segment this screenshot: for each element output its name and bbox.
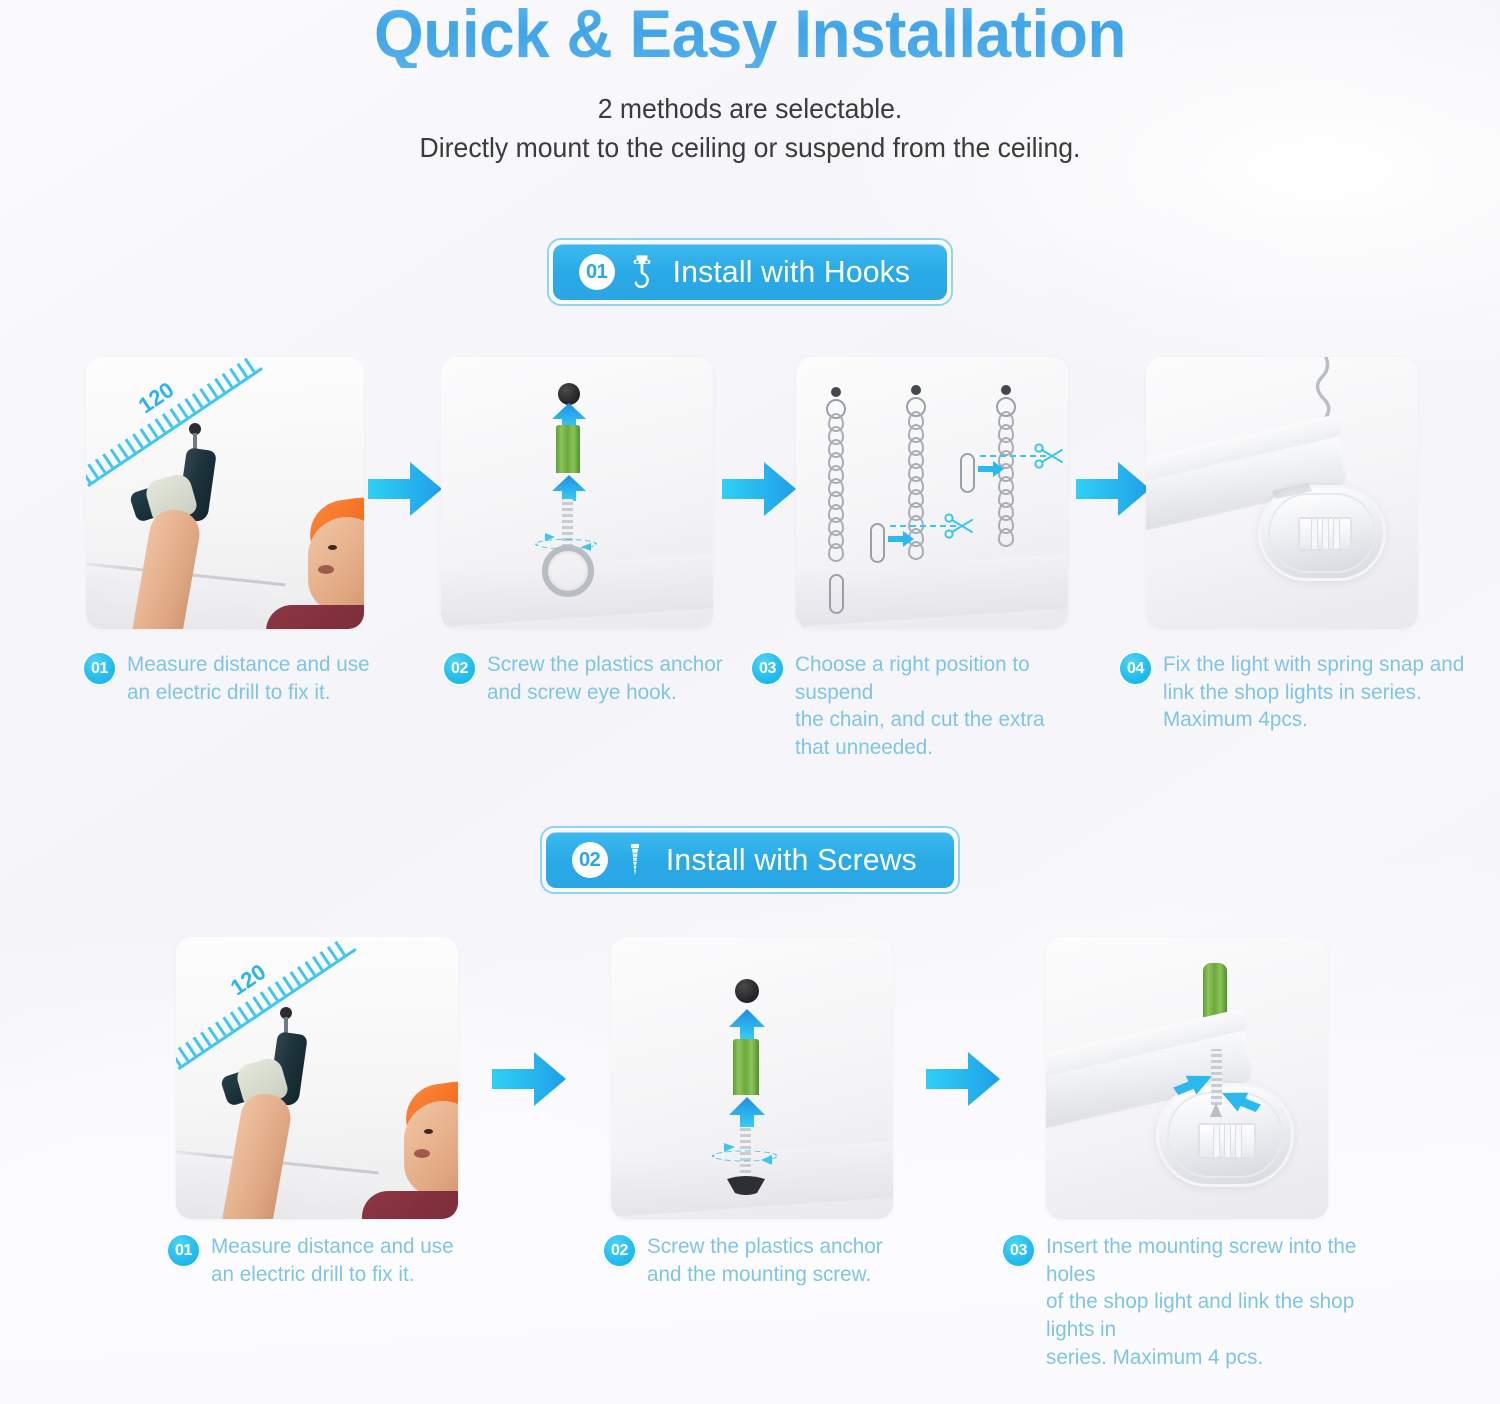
step-caption-1-2: 02 Screw the plastics anchor and screw e… bbox=[444, 651, 754, 706]
subtitle-line-1: 2 methods are selectable. bbox=[38, 90, 1463, 129]
worker-head-2 bbox=[404, 1101, 458, 1197]
step-number-badge: 02 bbox=[444, 653, 475, 684]
step-description: Screw the plastics anchor and the mounti… bbox=[647, 1233, 883, 1288]
section-pill-2: 02 Install with Screws bbox=[546, 832, 955, 888]
diagram-content-1-2 bbox=[441, 357, 713, 629]
step-description: Choose a right position to suspend the c… bbox=[795, 651, 1097, 762]
page-subtitle: 2 methods are selectable. Directly mount… bbox=[38, 90, 1463, 167]
spring-snap-b bbox=[870, 523, 885, 563]
section-label-1: Install with Hooks bbox=[672, 254, 909, 290]
step-image-1-2 bbox=[441, 357, 713, 629]
page-header: Quick & Easy Installation 2 methods are … bbox=[0, 0, 1500, 167]
step-caption-1-3: 03 Choose a right position to suspend th… bbox=[752, 651, 1102, 762]
diagram-content-2-2 bbox=[611, 937, 893, 1219]
ruler-ticks-2 bbox=[176, 941, 346, 1067]
step-caption-2-3: 03 Insert the mounting screw into the ho… bbox=[1003, 1233, 1403, 1372]
step-number-badge: 02 bbox=[604, 1235, 635, 1266]
chain-anchor-point-b bbox=[911, 385, 921, 395]
snap-insert-arrow-c bbox=[978, 461, 1004, 482]
flow-arrow-1-1 bbox=[368, 458, 442, 525]
end-cap-slot bbox=[1268, 477, 1328, 511]
section-pill-outer-1: 01 Install with Hooks bbox=[547, 238, 954, 306]
plastic-anchor bbox=[556, 425, 580, 473]
ruler-ticks bbox=[86, 358, 255, 484]
step-description: Fix the light with spring snap and link … bbox=[1163, 651, 1464, 734]
photo-content-1-1: 120 bbox=[86, 357, 364, 629]
step-image-1-1: 120 bbox=[86, 357, 364, 629]
chain-anchor-point-a bbox=[831, 387, 841, 397]
flow-arrow-1-3 bbox=[1076, 458, 1150, 525]
step-description: Screw the plastics anchor and screw eye … bbox=[487, 651, 723, 706]
step-image-2-2 bbox=[611, 937, 893, 1219]
screw-insert-arrow-right bbox=[1221, 1092, 1263, 1123]
ruler-baseline bbox=[87, 367, 263, 487]
step-description: Measure distance and use an electric dri… bbox=[127, 651, 370, 706]
shop-light-connector-port bbox=[1298, 517, 1352, 551]
step-number-badge: 03 bbox=[752, 653, 783, 684]
fixture-content-2-3 bbox=[1046, 937, 1328, 1219]
worker-shirt-2 bbox=[362, 1191, 458, 1219]
screw-icon bbox=[622, 841, 648, 879]
step-number-badge: 01 bbox=[168, 1235, 199, 1266]
plastic-anchor-2 bbox=[733, 1039, 759, 1095]
hook-icon bbox=[629, 253, 655, 291]
chain-full bbox=[826, 387, 846, 562]
spring-snap-c bbox=[960, 453, 975, 493]
ruler-baseline-2 bbox=[177, 948, 356, 1070]
step-caption-1-4: 04 Fix the light with spring snap and li… bbox=[1120, 651, 1470, 734]
section-number-badge-1: 01 bbox=[579, 254, 615, 290]
step-caption-1-1: 01 Measure distance and use an electric … bbox=[84, 651, 414, 706]
step-image-2-1: 120 bbox=[176, 937, 458, 1219]
step-caption-2-1: 01 Measure distance and use an electric … bbox=[168, 1233, 498, 1288]
section-header-hooks: 01 Install with Hooks bbox=[0, 238, 1500, 306]
worker-mouth-2 bbox=[414, 1149, 430, 1158]
scissors-icon-c bbox=[1034, 443, 1064, 474]
drilled-hole-2 bbox=[735, 979, 759, 1003]
worker-eye bbox=[328, 545, 337, 550]
step-description: Measure distance and use an electric dri… bbox=[211, 1233, 454, 1288]
drilled-hole bbox=[558, 383, 580, 405]
wall-surface-2 bbox=[176, 1157, 393, 1219]
step-number-badge: 01 bbox=[84, 653, 115, 684]
step-image-2-3 bbox=[1046, 937, 1328, 1219]
worker-shirt bbox=[266, 605, 364, 629]
step-description: Insert the mounting screw into the holes… bbox=[1046, 1233, 1398, 1372]
step-image-1-4 bbox=[1146, 357, 1418, 629]
subtitle-line-2: Directly mount to the ceiling or suspend… bbox=[38, 129, 1463, 168]
snap-insert-arrow-b bbox=[888, 531, 914, 552]
worker-mouth bbox=[318, 565, 334, 574]
mounting-screw-head bbox=[725, 1175, 767, 1197]
scissors-icon-b bbox=[944, 513, 974, 544]
step-caption-2-2: 02 Screw the plastics anchor and the mou… bbox=[604, 1233, 934, 1288]
shop-light-connector-port-2 bbox=[1198, 1123, 1256, 1159]
chain-anchor-point-c bbox=[1001, 385, 1011, 395]
flow-arrow-1-2 bbox=[722, 458, 796, 525]
worker-eye-2 bbox=[424, 1129, 433, 1134]
flow-arrow-2-1 bbox=[492, 1048, 566, 1115]
rotation-arrowheads-2 bbox=[710, 1137, 784, 1175]
section-number-badge-2: 02 bbox=[572, 842, 608, 878]
eye-hook-ring bbox=[542, 545, 594, 597]
fixture-content-1-4 bbox=[1146, 357, 1418, 629]
page-title: Quick & Easy Installation bbox=[45, 0, 1455, 68]
step-number-badge: 04 bbox=[1120, 653, 1151, 684]
infographic-page: Quick & Easy Installation 2 methods are … bbox=[0, 0, 1500, 1404]
section-pill-outer-2: 02 Install with Screws bbox=[540, 826, 961, 894]
step-number-badge: 03 bbox=[1003, 1235, 1034, 1266]
flow-arrow-2-2 bbox=[926, 1048, 1000, 1115]
screw-insert-arrow-left bbox=[1171, 1075, 1213, 1106]
worker-head bbox=[308, 517, 364, 613]
diagram-content-1-3 bbox=[796, 357, 1068, 629]
step-image-1-3 bbox=[796, 357, 1068, 629]
section-label-2: Install with Screws bbox=[665, 842, 916, 878]
section-header-screws: 02 Install with Screws bbox=[0, 826, 1500, 894]
spring-snap-a bbox=[829, 574, 844, 614]
photo-content-2-1: 120 bbox=[176, 937, 458, 1219]
section-pill-1: 01 Install with Hooks bbox=[553, 244, 948, 300]
